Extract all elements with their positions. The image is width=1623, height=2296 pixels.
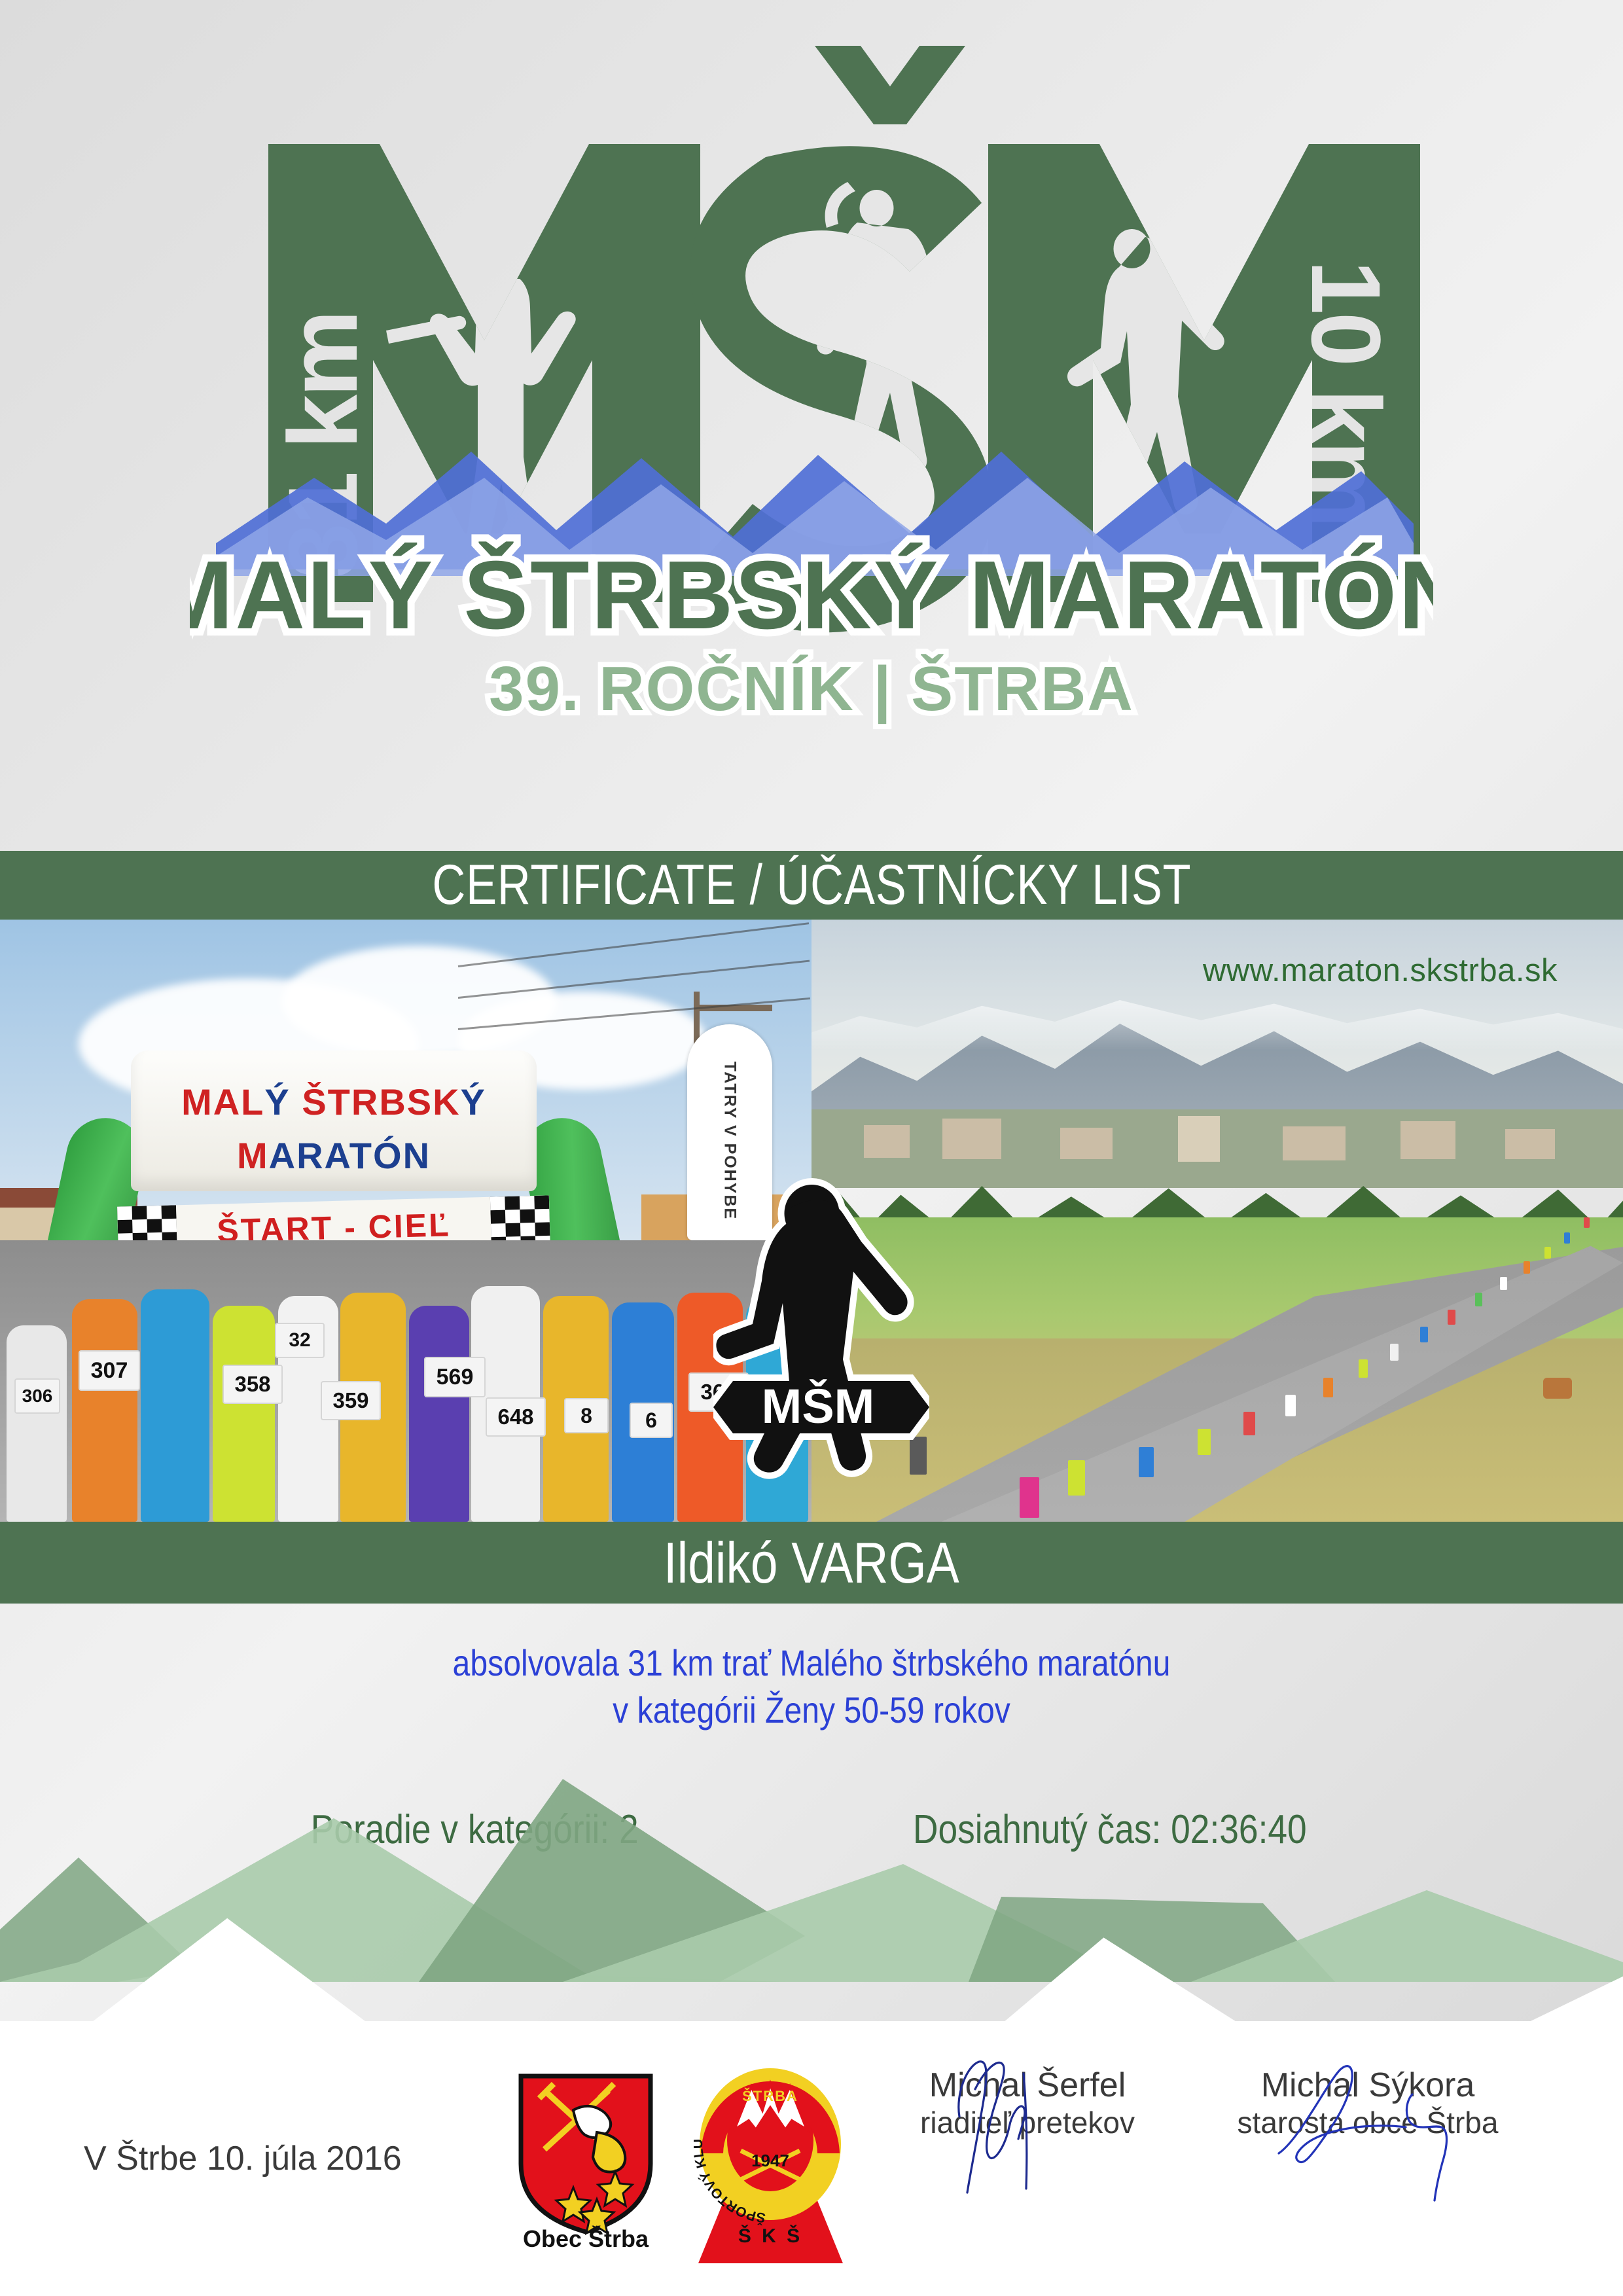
distant-runner — [1420, 1327, 1428, 1342]
footer: V Štrbe 10. júla 2016 Obec Štrba — [0, 2021, 1623, 2296]
certificate-title: CERTIFICATE / ÚČASTNÍCKY LIST — [432, 853, 1191, 918]
village-building — [1505, 1129, 1555, 1159]
signature-mayor — [1257, 2054, 1479, 2204]
bib-number: 648 — [486, 1397, 546, 1437]
achievement-line-1: absolvovala 31 km trať Malého štrbského … — [114, 1640, 1510, 1687]
distant-runner — [1285, 1395, 1296, 1416]
village-building — [1283, 1126, 1346, 1160]
achievement-line-2: v kategórii Ženy 50-59 rokov — [114, 1687, 1510, 1734]
distant-runner — [1475, 1293, 1482, 1306]
logo-caron — [815, 46, 965, 124]
arch-banner: MALÝ ŠTRBSKÝ MARATÓN — [131, 1050, 537, 1191]
cow — [1543, 1378, 1572, 1399]
runner-crowd: 307 358 32 359 569 648 8 6 360 306 — [0, 1240, 811, 1522]
distant-runner — [1139, 1447, 1154, 1477]
arch-text-strbsky-y: Ý — [461, 1081, 486, 1122]
bib-number: 32 — [275, 1323, 325, 1358]
distant-runner — [1544, 1247, 1551, 1259]
sports-club-logo: 1947 ŠPORTOVÝ KLUB Š K Š ŠTRBA — [694, 2067, 847, 2263]
distant-runner — [1524, 1261, 1530, 1274]
photo-countryside-course: www.maraton.skstrba.sk — [811, 920, 1623, 1522]
arch-text-maly-rest: Ý — [264, 1081, 302, 1122]
distant-runner — [1448, 1310, 1455, 1325]
runner — [141, 1289, 209, 1522]
municipality-coat-of-arms — [510, 2072, 661, 2236]
event-website-url: www.maraton.skstrba.sk — [1203, 952, 1558, 989]
certificate-page: 31 km — [0, 0, 1623, 2296]
arch-banner-line2: MARATÓN — [131, 1134, 537, 1177]
arch-text-maraton-rest: ARATÓN — [269, 1135, 431, 1176]
distant-runner — [1020, 1477, 1039, 1518]
msm-overlay-text: MŠM — [762, 1379, 875, 1433]
arch-text-strbsky: ŠTRBSK — [302, 1081, 460, 1122]
distant-runner — [1564, 1232, 1570, 1244]
distant-runner — [1243, 1412, 1255, 1435]
village-building — [1060, 1128, 1113, 1159]
arch-banner-line1: MALÝ ŠTRBSKÝ — [131, 1081, 537, 1123]
village — [811, 1109, 1623, 1188]
logo-title: MALÝ ŠTRBSKÝ MARATÓN — [190, 541, 1433, 649]
village-building — [1400, 1121, 1455, 1159]
signature-block-director: Michal Šerfel riaditeľ pretekov — [857, 2060, 1198, 2140]
club-top-text: ŠTRBA — [742, 2088, 798, 2104]
distant-runner — [1584, 1217, 1590, 1228]
bib-number: 306 — [14, 1378, 60, 1414]
bib-number: 358 — [223, 1365, 283, 1404]
runner — [72, 1299, 137, 1522]
signature-director — [929, 2054, 1126, 2204]
certificate-title-band: CERTIFICATE / ÚČASTNÍCKY LIST — [0, 851, 1623, 920]
msm-runner-overlay: MŠM — [713, 1158, 929, 1499]
runner — [213, 1306, 275, 1522]
village-building — [942, 1119, 1001, 1159]
runner — [409, 1306, 469, 1522]
bib-number: 8 — [564, 1398, 609, 1433]
bib-number: 6 — [630, 1403, 673, 1438]
arch-text-maly-m: MAL — [181, 1081, 264, 1122]
club-year: 1947 — [751, 2151, 789, 2170]
achievement-description: absolvovala 31 km trať Malého štrbského … — [0, 1640, 1623, 1733]
participant-name: Ildikó VARGA — [664, 1530, 959, 1596]
village-building — [864, 1125, 910, 1158]
bib-number: 569 — [424, 1357, 486, 1397]
bib-number: 307 — [79, 1350, 140, 1391]
logo-header: 31 km — [0, 0, 1623, 792]
participant-name-band: Ildikó VARGA — [0, 1522, 1623, 1604]
distant-runner — [1390, 1344, 1399, 1361]
bib-number: 359 — [321, 1381, 381, 1420]
signature-block-mayor: Michal Sýkora starosta obce Štrba — [1198, 2060, 1538, 2140]
photo-start-line: MALÝ ŠTRBSKÝ MARATÓN ŠTART - CIEĽ TATRY … — [0, 920, 811, 1522]
village-church — [1178, 1116, 1220, 1162]
club-initials: Š K Š — [738, 2225, 802, 2247]
distant-runner — [1323, 1378, 1333, 1397]
distant-runner — [1198, 1429, 1211, 1455]
distant-runner — [1359, 1359, 1368, 1378]
msm-runner-badge: MŠM — [713, 1158, 929, 1499]
issue-date: V Štrbe 10. júla 2016 — [84, 2139, 402, 2178]
distant-runner — [1068, 1460, 1085, 1496]
municipality-caption: Obec Štrba — [497, 2225, 674, 2253]
msm-logo: 31 km — [190, 26, 1433, 798]
logo-subtitle: 39. ROČNÍK | ŠTRBA — [489, 653, 1134, 725]
runner — [7, 1325, 67, 1522]
arch-text-maraton-m: M — [237, 1135, 269, 1176]
distant-runner — [1500, 1277, 1507, 1290]
